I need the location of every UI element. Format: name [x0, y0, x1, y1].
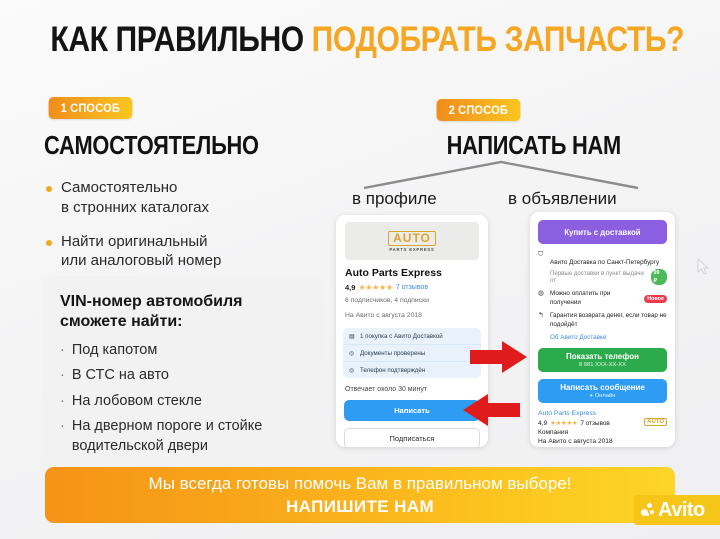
brand-logo-subtext: PARTS EXPRESS	[389, 247, 434, 252]
list-item: Найти оригинальный или аналоговый номер	[46, 232, 316, 272]
delivery-subtext-row: Первые доставки в пункт выдачи от 99 ₽	[550, 269, 667, 285]
profile-answer-time: Отвечает около 30 минут	[345, 386, 479, 393]
title-part-dark: КАК ПРАВИЛЬНО	[50, 20, 303, 59]
status-dot-icon: ●	[590, 393, 594, 399]
delivery-subtext: Первые доставки в пункт выдачи от	[550, 270, 648, 284]
seller-name-link[interactable]: Auto Parts Express	[538, 410, 667, 417]
arrow-right-icon	[470, 340, 528, 374]
ad-seller-block: Auto Parts Express 4,9 ★★★★★ 7 отзывов К…	[538, 410, 667, 447]
bullet-dot-icon	[46, 186, 52, 192]
return-icon: ↰	[538, 312, 546, 329]
status-badge: 99 ₽	[651, 269, 668, 285]
payment-row: Можно оплатить при получении Новое	[550, 290, 667, 307]
vin-item-text: На дверном пороге и стойке водительской …	[72, 417, 262, 456]
vin-item-text: Под капотом	[72, 341, 158, 360]
vin-item-text: В СТС на авто	[72, 366, 169, 385]
title-part-accent: ПОДОБРАТЬ ЗАПЧАСТЬ?	[312, 20, 684, 59]
cta-banner: Мы всегда готовы помочь Вам в правильном…	[45, 467, 675, 523]
method-one-bullet-list: Самостоятельно в стронних каталогах Найт…	[46, 178, 316, 285]
list-item: · На лобовом стекле	[60, 392, 307, 411]
list-item: ◎ Документы проверены	[343, 345, 481, 362]
list-item: ↰ Гарантия возврата денег, если товар не…	[538, 312, 667, 329]
sublabel-in-profile: в профиле	[352, 189, 437, 209]
profile-feature-list: ▤ 1 покупка с Авито Доставкой ◎ Документ…	[343, 328, 481, 378]
feature-text: 1 покупка с Авито Доставкой	[360, 333, 443, 340]
list-item: ▤ 1 покупка с Авито Доставкой	[343, 328, 481, 345]
status-badge: Новое	[644, 295, 667, 303]
write-message-label: Написать сообщение	[560, 383, 645, 392]
brand-logo-text: AUTO	[388, 231, 436, 246]
ad-delivery-info-list: ⛉ Авито Доставка по Санкт-Петербургу Пер…	[538, 251, 667, 341]
bullet-dot-icon: ·	[60, 392, 65, 411]
reviews-link[interactable]: 7 отзывов	[396, 284, 428, 291]
reviews-count: 7 отзывов	[580, 420, 609, 427]
bullet-dot-icon: ·	[60, 341, 65, 360]
delivery-text: Авито Доставка по Санкт-Петербургу	[550, 259, 659, 266]
bullet-dot-icon	[46, 240, 52, 246]
check-circle-icon: ◎	[349, 350, 356, 357]
online-status: ● Онлайн	[590, 393, 616, 399]
bullet-text: Найти оригинальный или аналоговый номер	[61, 232, 221, 272]
vin-item-text: На лобовом стекле	[72, 392, 202, 411]
arrow-left-icon	[462, 393, 520, 427]
vin-info-card: VIN-номер автомобиля сможете найти: · По…	[42, 276, 325, 480]
poster-canvas: КАК ПРАВИЛЬНО ПОДОБРАТЬ ЗАПЧАСТЬ? 1 СПОС…	[0, 0, 720, 539]
online-label: Онлайн	[595, 393, 616, 399]
cta-line-two: НАПИШИТЕ НАМ	[286, 497, 434, 517]
feature-text: Документы проверены	[360, 350, 425, 357]
wallet-icon: ◍	[538, 290, 546, 307]
phone-number: 8 981 XXX-XX-XX	[579, 362, 626, 368]
write-button[interactable]: Написать	[344, 400, 480, 421]
bullet-dot-icon: ·	[60, 417, 65, 456]
vin-location-list: · Под капотом · В СТС на авто · На лобов…	[60, 341, 307, 456]
list-item: ⛉ Авито Доставка по Санкт-Петербургу Пер…	[538, 251, 667, 285]
brand-logo-text: AUTO	[644, 418, 667, 426]
payment-text: Можно оплатить при получении	[550, 290, 641, 307]
seller-type: Компания	[538, 429, 667, 436]
badge-method-one: 1 СПОСОБ	[49, 97, 132, 119]
heading-method-one: САМОСТОЯТЕЛЬНО	[44, 132, 259, 158]
star-icon: ★★★★★	[550, 419, 577, 427]
profile-followers: 6 подписчиков, 4 подписки	[345, 296, 479, 307]
check-circle-icon: ◎	[349, 367, 356, 374]
avatar: AUTO PARTS EXPRESS	[345, 222, 479, 260]
guarantee-text: Гарантия возврата денег, если товар не п…	[550, 312, 667, 329]
page-title: КАК ПРАВИЛЬНО ПОДОБРАТЬ ЗАПЧАСТЬ?	[50, 22, 669, 57]
heading-method-two: НАПИСАТЬ НАМ	[447, 132, 621, 158]
write-message-button[interactable]: Написать сообщение ● Онлайн	[538, 379, 667, 403]
profile-rating: 4,9 ★★★★★ 7 отзывов	[345, 283, 479, 292]
list-item: ◎ Телефон подтверждён	[343, 362, 481, 378]
profile-name: Auto Parts Express	[345, 267, 479, 279]
truck-icon: ⛉	[538, 251, 546, 285]
subscribe-button[interactable]: Подписаться	[344, 428, 480, 447]
seller-since: На Авито с августа 2018	[538, 438, 667, 445]
star-icon: ★★★★★	[358, 283, 392, 292]
avito-wordmark: Avito	[658, 499, 705, 522]
badge-method-two: 2 СПОСОБ	[437, 99, 520, 121]
list-item: Самостоятельно в стронних каталогах	[46, 178, 316, 218]
cta-line-one: Мы всегда готовы помочь Вам в правильном…	[149, 474, 572, 494]
sublabel-in-ad: в объявлении	[508, 189, 617, 209]
avito-watermark: Avito	[634, 495, 720, 525]
feature-text: Телефон подтверждён	[360, 367, 425, 374]
about-delivery-link[interactable]: Об Авито Доставке	[550, 334, 667, 341]
bullet-dot-icon: ·	[60, 366, 65, 385]
rating-value: 4,9	[345, 283, 355, 292]
mouse-cursor-icon	[697, 258, 711, 276]
list-item: · Под капотом	[60, 341, 307, 360]
show-phone-button[interactable]: Показать телефон 8 981 XXX-XX-XX	[538, 348, 667, 372]
ad-screenshot-card: Купить с доставкой ⛉ Авито Доставка по С…	[530, 212, 675, 447]
buy-with-delivery-button[interactable]: Купить с доставкой	[538, 220, 667, 244]
rating-value: 4,9	[538, 420, 547, 427]
delivery-box-icon: ▤	[349, 333, 356, 340]
branch-connector-icon	[356, 158, 646, 190]
profile-since: На Авито с августа 2018	[345, 311, 479, 322]
bullet-text: Самостоятельно в стронних каталогах	[61, 178, 209, 218]
avito-dots-icon	[641, 503, 655, 517]
list-item: ◍ Можно оплатить при получении Новое	[538, 290, 667, 307]
vin-card-title: VIN-номер автомобиля сможете найти:	[60, 292, 307, 333]
list-item: · На дверном пороге и стойке водительско…	[60, 417, 307, 456]
list-item: · В СТС на авто	[60, 366, 307, 385]
show-phone-label: Показать телефон	[566, 352, 639, 361]
